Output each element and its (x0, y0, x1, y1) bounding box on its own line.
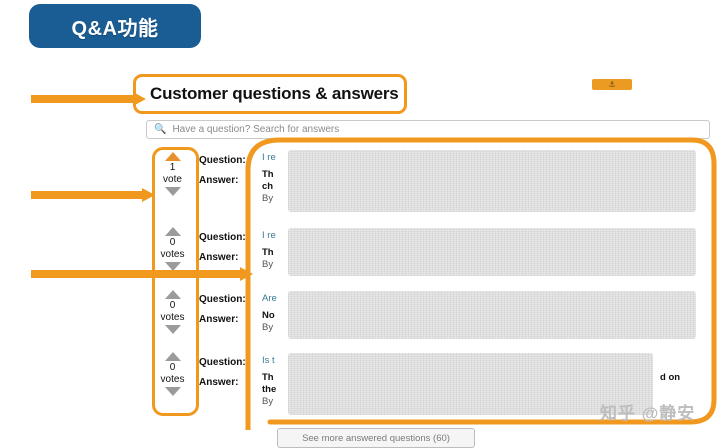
redaction-block (288, 291, 696, 339)
upvote-arrow-icon[interactable] (165, 227, 181, 236)
answer-text-tail: d on (660, 372, 680, 383)
answer-byline: By (262, 193, 276, 205)
question-label: Question: (199, 232, 249, 243)
upvote-arrow-icon[interactable] (165, 290, 181, 299)
question-label: Question: (199, 357, 249, 368)
arrow-to-vote-column (31, 188, 155, 202)
vote-unit-label: votes (152, 312, 193, 323)
anchor-icon: ⚓ (608, 81, 615, 89)
redaction-block (288, 228, 696, 276)
answer-label: Answer: (199, 377, 249, 388)
watermark: 知乎 @静安 (600, 399, 695, 424)
arrow-to-heading (31, 92, 146, 106)
slide-canvas: Q&A功能 Customer questions & answers 🔍 Hav… (0, 0, 720, 442)
downvote-arrow-icon[interactable] (165, 325, 181, 334)
customer-questions-heading-box: Customer questions & answers (133, 74, 407, 114)
downvote-arrow-icon[interactable] (165, 387, 181, 396)
question-link[interactable]: Are (262, 293, 277, 305)
search-icon: 🔍 (154, 125, 166, 135)
question-link[interactable]: Is t (262, 355, 276, 367)
qa-row: Are No By (262, 293, 277, 334)
qa-row: Is t Th the By d on (262, 355, 276, 408)
question-link[interactable]: I re (262, 152, 276, 164)
upvote-arrow-icon[interactable] (165, 152, 181, 161)
answer-text-line: Th (262, 372, 276, 384)
answer-label: Answer: (199, 252, 249, 263)
vote-unit-label: vote (152, 174, 193, 185)
downvote-arrow-icon[interactable] (165, 187, 181, 196)
qa-row: I re Th By (262, 230, 276, 271)
page-title: Customer questions & answers (150, 84, 399, 104)
vote-unit-label: votes (152, 374, 193, 385)
vote-count: 0 (152, 300, 193, 312)
answer-byline: By (262, 259, 276, 271)
redaction-block (288, 150, 696, 212)
vote-unit-label: votes (152, 249, 193, 260)
vote-widget[interactable]: 0 votes (152, 227, 193, 271)
answer-text-line: Th (262, 247, 276, 259)
answer-byline: By (262, 396, 276, 408)
top-right-chip-button[interactable]: ⚓ (592, 79, 632, 90)
arrow-to-content (31, 267, 253, 281)
question-label: Question: (199, 155, 249, 166)
vote-widget[interactable]: 1 vote (152, 152, 193, 196)
answer-text-line: Th (262, 169, 276, 181)
qa-label-group: Question: Answer: (199, 155, 249, 186)
question-label: Question: (199, 294, 249, 305)
answer-label: Answer: (199, 175, 249, 186)
answer-text-line: No (262, 310, 277, 322)
answer-byline: By (262, 322, 277, 334)
qa-label-group: Question: Answer: (199, 232, 249, 263)
vote-widget[interactable]: 0 votes (152, 352, 193, 396)
slide-title-badge: Q&A功能 (29, 4, 201, 48)
vote-count: 0 (152, 362, 193, 374)
question-link[interactable]: I re (262, 230, 276, 242)
qa-label-group: Question: Answer: (199, 357, 249, 388)
qa-label-group: Question: Answer: (199, 294, 249, 325)
slide-title-text: Q&A功能 (72, 12, 159, 41)
answer-text-line: the (262, 384, 276, 396)
vote-count: 1 (152, 162, 193, 174)
answer-label: Answer: (199, 314, 249, 325)
qa-row: I re Th ch By (262, 152, 276, 205)
see-more-answered-questions-button[interactable]: See more answered questions (60) (277, 428, 475, 448)
vote-count: 0 (152, 237, 193, 249)
upvote-arrow-icon[interactable] (165, 352, 181, 361)
vote-widget[interactable]: 0 votes (152, 290, 193, 334)
redaction-block (288, 353, 653, 415)
answer-text-line: ch (262, 181, 276, 193)
